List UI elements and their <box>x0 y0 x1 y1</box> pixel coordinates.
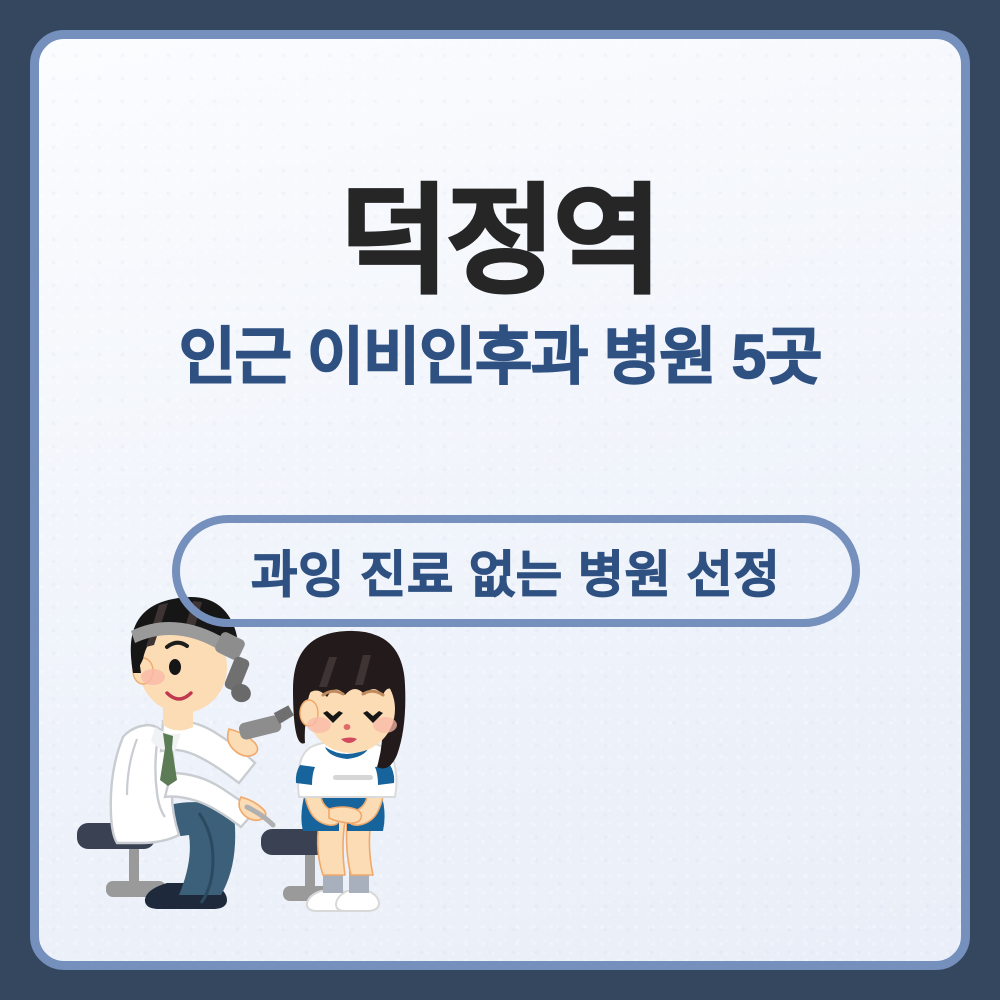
heading-block: 덕정역 인근 이비인후과 병원 5곳 <box>39 39 961 393</box>
poster-root: 덕정역 인근 이비인후과 병원 5곳 과잉 진료 없는 병원 선정 <box>0 0 1000 1000</box>
otoscope <box>238 705 295 741</box>
highlight-pill[interactable]: 과잉 진료 없는 병원 선정 <box>172 515 860 627</box>
page-subtitle: 인근 이비인후과 병원 5곳 <box>39 306 961 392</box>
poster-card: 덕정역 인근 이비인후과 병원 5곳 과잉 진료 없는 병원 선정 <box>30 30 970 970</box>
highlight-pill-label: 과잉 진료 없는 병원 선정 <box>251 535 781 607</box>
page-title: 덕정역 <box>39 39 961 306</box>
